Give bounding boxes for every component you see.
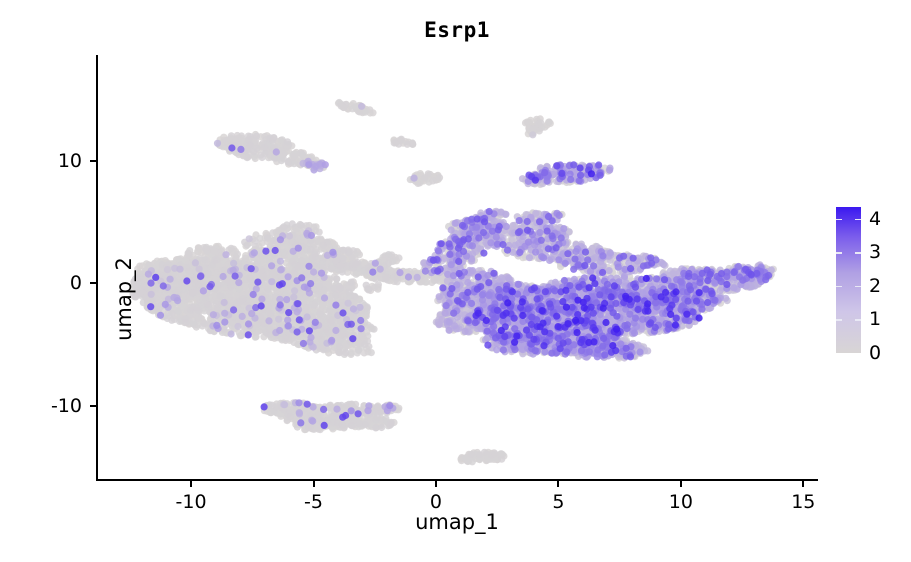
page-title: Esrp1 (96, 18, 818, 42)
y-tick-label: 0 (70, 272, 82, 294)
y-tick-label: 10 (58, 150, 82, 172)
x-tick (435, 481, 437, 487)
y-axis-label: umap_2 (112, 209, 136, 389)
x-axis-spine (96, 479, 818, 481)
y-tick (90, 405, 96, 407)
colorbar-tick (836, 219, 842, 221)
colorbar-tick (855, 286, 861, 288)
colorbar-tick (855, 219, 861, 221)
y-tick (90, 160, 96, 162)
colorbar: 01234 (836, 207, 906, 353)
colorbar-tick (836, 252, 842, 254)
x-tick (557, 481, 559, 487)
feature-plot-figure: Esrp1 -10-5051015 -10010 umap_2 umap_1 0… (0, 0, 911, 562)
y-tick (90, 282, 96, 284)
colorbar-tick-label: 4 (869, 208, 881, 230)
x-tick (802, 481, 804, 487)
scatter-plot-area (98, 55, 818, 479)
colorbar-tick (855, 252, 861, 254)
y-tick-label: -10 (51, 395, 82, 417)
colorbar-tick (836, 286, 842, 288)
colorbar-gradient (836, 207, 861, 353)
scatter-points-svg (98, 55, 818, 479)
x-tick (313, 481, 315, 487)
colorbar-tick-label: 2 (869, 275, 881, 297)
y-axis-spine (96, 55, 98, 481)
colorbar-tick (836, 319, 842, 321)
colorbar-tick-label: 0 (869, 342, 881, 364)
colorbar-tick-label: 1 (869, 308, 881, 330)
colorbar-tick-label: 3 (869, 241, 881, 263)
x-tick (680, 481, 682, 487)
colorbar-tick (855, 319, 861, 321)
x-axis-label: umap_1 (96, 510, 818, 534)
plot-axes: -10-5051015 -10010 umap_2 (96, 55, 818, 481)
x-tick (190, 481, 192, 487)
